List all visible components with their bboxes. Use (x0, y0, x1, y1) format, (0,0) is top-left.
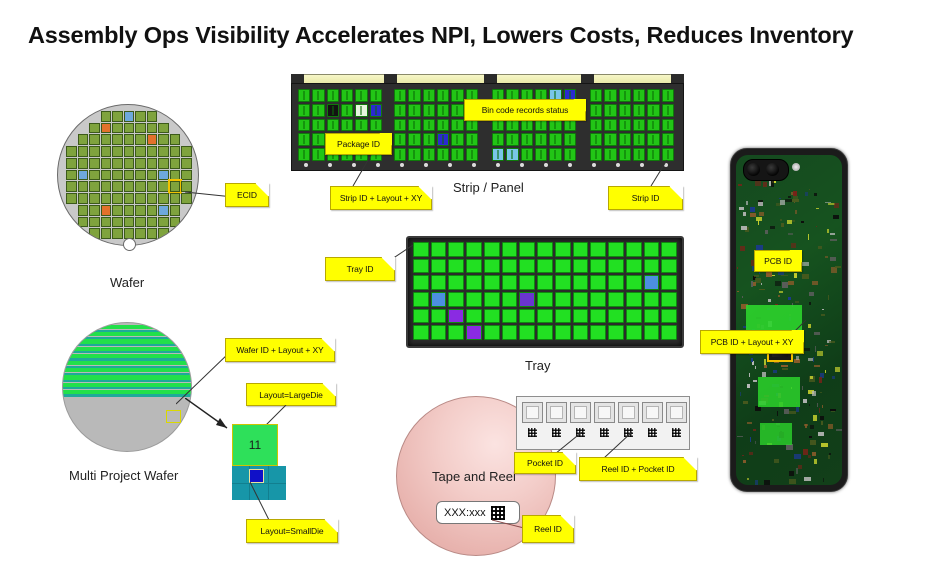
note-pcb-id[interactable]: PCB ID (754, 250, 802, 272)
wafer-die-empty (66, 217, 77, 228)
multi-project-wafer-diagram (62, 322, 192, 452)
tray-chip (448, 275, 464, 290)
pcb-component (749, 452, 752, 455)
caption-mpw: Multi Project Wafer (69, 468, 178, 483)
pcb-component (755, 181, 761, 186)
note-strip-id[interactable]: Strip ID (608, 186, 683, 210)
tray-chip (484, 309, 500, 324)
wafer-die (66, 193, 77, 204)
tray-chip (431, 242, 447, 257)
tray-chip (573, 242, 589, 257)
wafer-die (101, 146, 112, 157)
tray-chip (644, 242, 660, 257)
wafer-die-empty (66, 228, 77, 239)
strip-package (394, 148, 406, 161)
strip-hole (568, 163, 572, 167)
wafer-die (89, 158, 100, 169)
pcb-component (823, 478, 825, 482)
tray-chip (555, 309, 571, 324)
tray-chip (608, 259, 624, 274)
note-package-id-label: Package ID (337, 139, 380, 149)
wafer-die (101, 217, 112, 228)
wafer-die (147, 158, 158, 169)
strip-package (327, 89, 339, 102)
pcb-component (755, 441, 756, 444)
mpw-selected-die-highlight[interactable] (166, 410, 181, 423)
tray-chip-marked (644, 275, 660, 290)
tray-chip (626, 259, 642, 274)
strip-hole (544, 163, 548, 167)
wafer-die-empty (78, 123, 89, 134)
note-ecid-label: ECID (237, 190, 257, 200)
pcb-component (830, 233, 835, 236)
pcb-component (819, 408, 821, 414)
pcb-component (789, 471, 794, 476)
pcb-component (788, 297, 791, 300)
mpw-stripe-layers (63, 323, 191, 451)
pcb-component (832, 376, 835, 379)
wafer-die (158, 170, 169, 181)
strip-package-marked (492, 148, 504, 161)
pcb-component (822, 405, 823, 408)
tape-pocket[interactable] (522, 402, 543, 423)
pcb-component (788, 233, 794, 234)
pcb-component (822, 309, 824, 310)
wafer-die (147, 181, 158, 192)
pcb-component (828, 424, 833, 430)
tray-chip (573, 292, 589, 307)
camera-module-icon (743, 159, 789, 181)
pcb-component (781, 365, 788, 366)
pcb-component (802, 262, 809, 266)
camera-lens-icon (766, 163, 779, 176)
strip-hole (496, 163, 500, 167)
note-wafer-id-layout-xy-label: Wafer ID + Layout + XY (236, 345, 323, 355)
tray-chip (626, 242, 642, 257)
wafer-die (147, 228, 158, 239)
small-die-cell (269, 466, 286, 483)
wafer-die (112, 123, 123, 134)
wafer-die-empty (66, 134, 77, 145)
wafer-die (181, 146, 192, 157)
tray-chip (661, 309, 677, 324)
pcb-highlight-region (758, 377, 800, 407)
strip-package (408, 148, 420, 161)
strip-hole (592, 163, 596, 167)
pcb-component (809, 436, 812, 439)
note-strip-id-layout-xy[interactable]: Strip ID + Layout + XY (330, 186, 432, 210)
pcb-component (809, 302, 811, 305)
small-die-highlighted[interactable] (249, 469, 264, 483)
pcb-component (737, 436, 743, 437)
wafer-die (78, 134, 89, 145)
pcb-component (812, 391, 816, 395)
strip-package (590, 148, 602, 161)
note-bin-code[interactable]: Bin code records status (464, 99, 586, 121)
strip-package (633, 119, 645, 132)
pcb-component (834, 203, 839, 207)
wafer-die (89, 181, 100, 192)
pcb-component (743, 401, 748, 403)
pcb-component (814, 193, 817, 195)
tray-chip (555, 275, 571, 290)
pcb-component (814, 459, 817, 464)
pcb-component (814, 365, 820, 367)
note-reel-id[interactable]: Reel ID (522, 515, 574, 543)
pcb-component (814, 332, 821, 335)
wafer-die (158, 181, 169, 192)
pcb-component (793, 196, 798, 200)
strip-package (394, 89, 406, 102)
tape-pocket[interactable] (546, 402, 567, 423)
strip-hole (520, 163, 524, 167)
pcb-component (764, 365, 768, 369)
pcb-component (750, 207, 755, 213)
pcb-component (825, 202, 831, 204)
pcb-component (770, 226, 775, 229)
tray-chip (573, 259, 589, 274)
strip-package (564, 133, 576, 146)
strip-package (437, 148, 449, 161)
wafer-die (101, 181, 112, 192)
pcb-component (781, 275, 788, 277)
tray-chip (537, 275, 553, 290)
strip-package (312, 133, 324, 146)
pcb-component (831, 411, 834, 413)
pcb-component (830, 257, 836, 261)
pcb-component (803, 399, 806, 403)
wafer-disc (57, 104, 199, 246)
wafer-die (78, 170, 89, 181)
tray-chip (608, 309, 624, 324)
pcb-component (777, 411, 778, 417)
tray-chip (484, 242, 500, 257)
strip-package (492, 133, 504, 146)
strip-package (619, 148, 631, 161)
pcb-component (758, 202, 763, 206)
note-reel-id-pocket-id[interactable]: Reel ID + Pocket ID (579, 457, 697, 481)
camera-lens-icon (747, 163, 760, 176)
tray-chip (537, 309, 553, 324)
strip-package (590, 104, 602, 117)
pcb-component (739, 207, 744, 210)
pcb-component (740, 246, 745, 250)
pocket-qr-code-icon (648, 428, 657, 437)
strip-package (633, 89, 645, 102)
wafer-die-empty (181, 134, 192, 145)
tray-chip (448, 292, 464, 307)
strip-hole (616, 163, 620, 167)
strip-package (394, 119, 406, 132)
wafer-die-empty (78, 228, 89, 239)
mpw-stripe (63, 394, 191, 396)
wafer-die-empty (170, 111, 181, 122)
pcb-component (820, 416, 825, 420)
note-layout-small-die[interactable]: Layout=SmallDie (246, 519, 338, 543)
tray-chip (448, 259, 464, 274)
strip-package-marked (327, 104, 339, 117)
strip-package (466, 148, 478, 161)
strip-package (549, 148, 561, 161)
pcb-component (794, 202, 795, 203)
wafer-die (101, 158, 112, 169)
strip-package (647, 119, 659, 132)
tape-pocket-cavity (670, 406, 683, 419)
pcb-component (825, 256, 828, 258)
tray-chip (626, 325, 642, 340)
note-layout-large-die-label: Layout=LargeDie (259, 390, 322, 400)
strip-hole (640, 163, 644, 167)
wafer-die (78, 158, 89, 169)
wafer-die (101, 193, 112, 204)
tray-chip (431, 309, 447, 324)
strip-package (633, 133, 645, 146)
tray-chip (644, 259, 660, 274)
note-pcb-id-label: PCB ID (764, 256, 792, 266)
pcb-component (812, 281, 818, 285)
wafer-die (112, 217, 123, 228)
wafer-die-selected[interactable] (170, 181, 181, 192)
small-die-cell (232, 466, 249, 483)
wafer-die (147, 111, 158, 122)
pcb-component (751, 358, 754, 362)
tray-chip (626, 292, 642, 307)
wafer-die (101, 228, 112, 239)
note-pocket-id[interactable]: Pocket ID (514, 452, 576, 474)
tray-chip (448, 242, 464, 257)
wafer-die (170, 158, 181, 169)
strip-package (619, 133, 631, 146)
strip-package (341, 119, 353, 132)
strip-package (298, 133, 310, 146)
wafer-die (101, 134, 112, 145)
pcb-component (759, 289, 765, 290)
tape-pocket[interactable] (642, 402, 663, 423)
pcb-component (835, 367, 840, 372)
strip-hole (400, 163, 404, 167)
pcb-component (778, 295, 780, 297)
wafer-die (158, 217, 169, 228)
strip-package (408, 89, 420, 102)
pcb-component (794, 454, 801, 460)
tray-chip (466, 309, 482, 324)
wafer-die (78, 181, 89, 192)
wafer-die (158, 228, 169, 239)
wafer-die (158, 205, 169, 216)
pcb-component (789, 411, 796, 414)
pcb-component (769, 181, 771, 186)
wafer-die (147, 217, 158, 228)
strip-package-marked (437, 133, 449, 146)
pcb-component (764, 480, 770, 485)
pcb-component (833, 215, 840, 219)
pcb-component (766, 272, 773, 278)
strip-package-marked (355, 104, 367, 117)
wafer-die-empty (181, 205, 192, 216)
note-fold-icon (322, 383, 336, 397)
pcb-component (836, 429, 842, 431)
note-reel-id-label: Reel ID (534, 524, 562, 534)
pcb-component (810, 376, 813, 379)
tray-chip (502, 259, 518, 274)
pcb-component (809, 404, 810, 406)
tray-chip (573, 275, 589, 290)
wafer-die (112, 181, 123, 192)
pcb-component (792, 220, 794, 222)
wafer-die (89, 123, 100, 134)
large-die-number: 11 (249, 438, 261, 452)
pcb-component (810, 440, 816, 445)
wafer-die (66, 146, 77, 157)
note-fold-icon (669, 186, 683, 200)
tray-chip (413, 309, 429, 324)
tray-chip (413, 259, 429, 274)
tape-pocket[interactable] (570, 402, 591, 423)
strip-package (604, 104, 616, 117)
wafer-die-empty (66, 123, 77, 134)
pcb-component (818, 432, 824, 436)
pcb-component (742, 296, 743, 297)
wafer-die (78, 217, 89, 228)
strip-package (423, 133, 435, 146)
tray-chip (555, 325, 571, 340)
pcb-component (821, 421, 823, 425)
pcb-component (780, 200, 784, 205)
pcb-component (787, 220, 792, 224)
note-wafer-id-layout-xy[interactable]: Wafer ID + Layout + XY (225, 338, 335, 362)
strip-package (298, 119, 310, 132)
tray-chip (644, 325, 660, 340)
pcb-component (749, 373, 750, 377)
pcb-component (831, 267, 838, 273)
note-layout-large-die[interactable]: Layout=LargeDie (246, 383, 336, 406)
wafer-die (158, 193, 169, 204)
strip-package (394, 133, 406, 146)
pcb-component (828, 295, 830, 300)
note-strip-id-label: Strip ID (632, 193, 660, 203)
strip-package (298, 89, 310, 102)
note-fold-icon (562, 452, 576, 466)
note-fold-icon (379, 133, 392, 146)
tape-pocket[interactable] (594, 402, 615, 423)
wafer-die (112, 158, 123, 169)
caption-tray: Tray (525, 358, 551, 373)
tray-chip (537, 325, 553, 340)
pcb-component (753, 380, 757, 382)
tray-chip (661, 292, 677, 307)
pcb-component (830, 239, 837, 241)
tray-chip (573, 325, 589, 340)
strip-package (590, 119, 602, 132)
strip-package (604, 133, 616, 146)
pcb-component (791, 243, 797, 248)
note-package-id[interactable]: Package ID (325, 133, 392, 155)
pcb-component (747, 384, 750, 388)
tray-chip (626, 275, 642, 290)
wafer-die-empty (66, 205, 77, 216)
pcb-component (802, 386, 803, 390)
pcb-component (755, 406, 761, 411)
wafer-die (147, 123, 158, 134)
pcb-component (798, 465, 802, 470)
note-fold-icon (560, 515, 574, 529)
large-die: 11 (232, 424, 278, 466)
pcb-component (795, 210, 797, 213)
note-tray-id[interactable]: Tray ID (325, 257, 395, 281)
strip-package (647, 104, 659, 117)
wafer-die (112, 205, 123, 216)
pcb-component (813, 415, 816, 421)
tray-chip (661, 325, 677, 340)
note-pcb-id-layout-xy[interactable]: PCB ID + Layout + XY (700, 330, 804, 354)
pcb-component (796, 407, 798, 412)
wafer-die-empty (181, 123, 192, 134)
tray-chip (466, 259, 482, 274)
wafer-die-empty (170, 123, 181, 134)
tape-pocket-cavity (622, 406, 635, 419)
tray-chip (555, 292, 571, 307)
strip-package (355, 89, 367, 102)
pcb-component (816, 226, 817, 227)
wafer-die (124, 205, 135, 216)
strip-package-marked (370, 104, 382, 117)
pcb-component (795, 301, 799, 303)
strip-package (355, 119, 367, 132)
wafer-die (147, 170, 158, 181)
wafer-die (124, 217, 135, 228)
wafer-die (112, 193, 123, 204)
wafer-die (101, 123, 112, 134)
wafer-die (135, 228, 146, 239)
pcb-component (765, 230, 768, 234)
strip-package (662, 104, 674, 117)
tray-chip (555, 242, 571, 257)
wafer-die (147, 134, 158, 145)
strip-package (312, 89, 324, 102)
tray-chip (413, 325, 429, 340)
strip-hole (472, 163, 476, 167)
pcb-component (740, 392, 742, 396)
wafer-die (89, 146, 100, 157)
page-title: Assembly Ops Visibility Accelerates NPI,… (28, 22, 908, 49)
tray-chip (448, 325, 464, 340)
tape-pocket[interactable] (618, 402, 639, 423)
pcb-component (753, 282, 756, 287)
pcb-component (825, 345, 829, 346)
strip-id-leader-line (645, 160, 671, 188)
tape-pocket[interactable] (666, 402, 687, 423)
tray-chip (484, 292, 500, 307)
flash-icon (792, 163, 800, 171)
reel-id-leader-line (492, 518, 526, 532)
wafer-die (158, 134, 169, 145)
pcb-component (753, 429, 756, 431)
strip-package (604, 119, 616, 132)
pcb-component (801, 221, 804, 224)
pcb-component (773, 370, 778, 373)
pcb-component (815, 346, 816, 352)
wafer-die (147, 205, 158, 216)
wafer-die (101, 111, 112, 122)
strip-package (633, 148, 645, 161)
note-ecid[interactable]: ECID (225, 183, 269, 207)
wafer-die (89, 170, 100, 181)
pcb-component (804, 348, 809, 351)
pcb-component (755, 366, 756, 368)
pcb-component (818, 246, 822, 249)
strip-package (423, 89, 435, 102)
strip-package (423, 104, 435, 117)
